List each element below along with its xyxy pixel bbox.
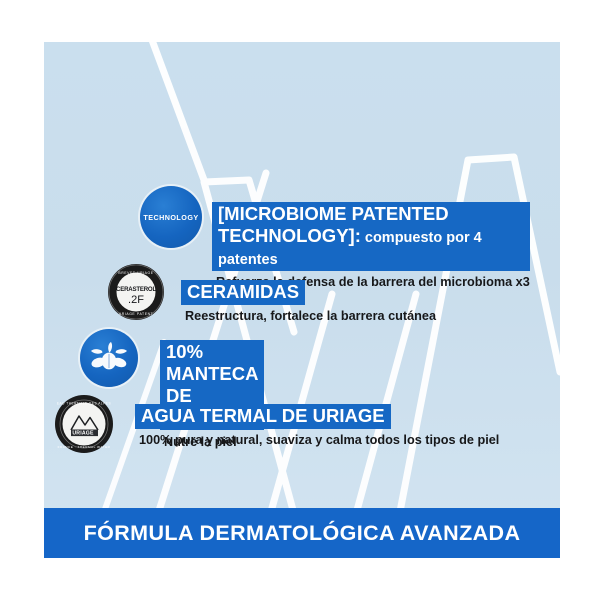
technology-badge-label: TECHNOLOGY [143,213,198,222]
feature-text-ceramidas: CERAMIDAS Reestructura, fortalece la bar… [181,280,436,323]
svg-text:URIAGE PATENT: URIAGE PATENT [119,312,154,316]
technology-badge-icon: TECHNOLOGY [140,186,202,248]
svg-text:URIAGE: URIAGE [72,431,94,437]
svg-text:.2F: .2F [128,294,144,306]
feature-title-agua-termal: AGUA TERMAL DE URIAGE [135,404,391,429]
feature-subtitle-agua-termal: 100% pura y natural, suaviza y calma tod… [139,433,499,447]
feature-title-ceramidas: CERAMIDAS [181,280,305,305]
feature-title-line2: TECHNOLOGY]: [218,225,361,246]
svg-text:EAU THERMALE DES ALPES: EAU THERMALE DES ALPES [57,402,111,406]
svg-text:CERASTEROL: CERASTEROL [116,286,156,293]
infographic-canvas: TECHNOLOGY [MICROBIOME PATENTEDTECHNOLOG… [0,0,600,600]
svg-text:FRANCE · THERMAL WATER: FRANCE · THERMAL WATER [58,445,111,449]
feature-title-microbiome: [MICROBIOME PATENTEDTECHNOLOGY]: compues… [212,202,530,271]
bottom-banner-text: FÓRMULA DERMATOLÓGICA AVANZADA [84,521,521,546]
bottom-banner: FÓRMULA DERMATOLÓGICA AVANZADA [44,508,560,558]
feature-title-line1: [MICROBIOME PATENTED [218,203,449,224]
uriage-thermal-water-seal-icon: EAU THERMALE DES ALPES FRANCE · THERMAL … [54,394,114,454]
feature-text-microbiome: [MICROBIOME PATENTEDTECHNOLOGY]: compues… [212,202,530,289]
feature-text-agua-termal: AGUA TERMAL DE URIAGE 100% pura y natura… [135,404,499,447]
feature-subtitle-ceramidas: Reestructura, fortalece la barrera cután… [185,309,436,323]
svg-text:BREVET URIAGE: BREVET URIAGE [118,271,153,275]
cerasterol-seal-icon: BREVET URIAGE URIAGE PATENT CERASTEROL .… [107,263,165,321]
shea-butter-icon [80,329,138,387]
